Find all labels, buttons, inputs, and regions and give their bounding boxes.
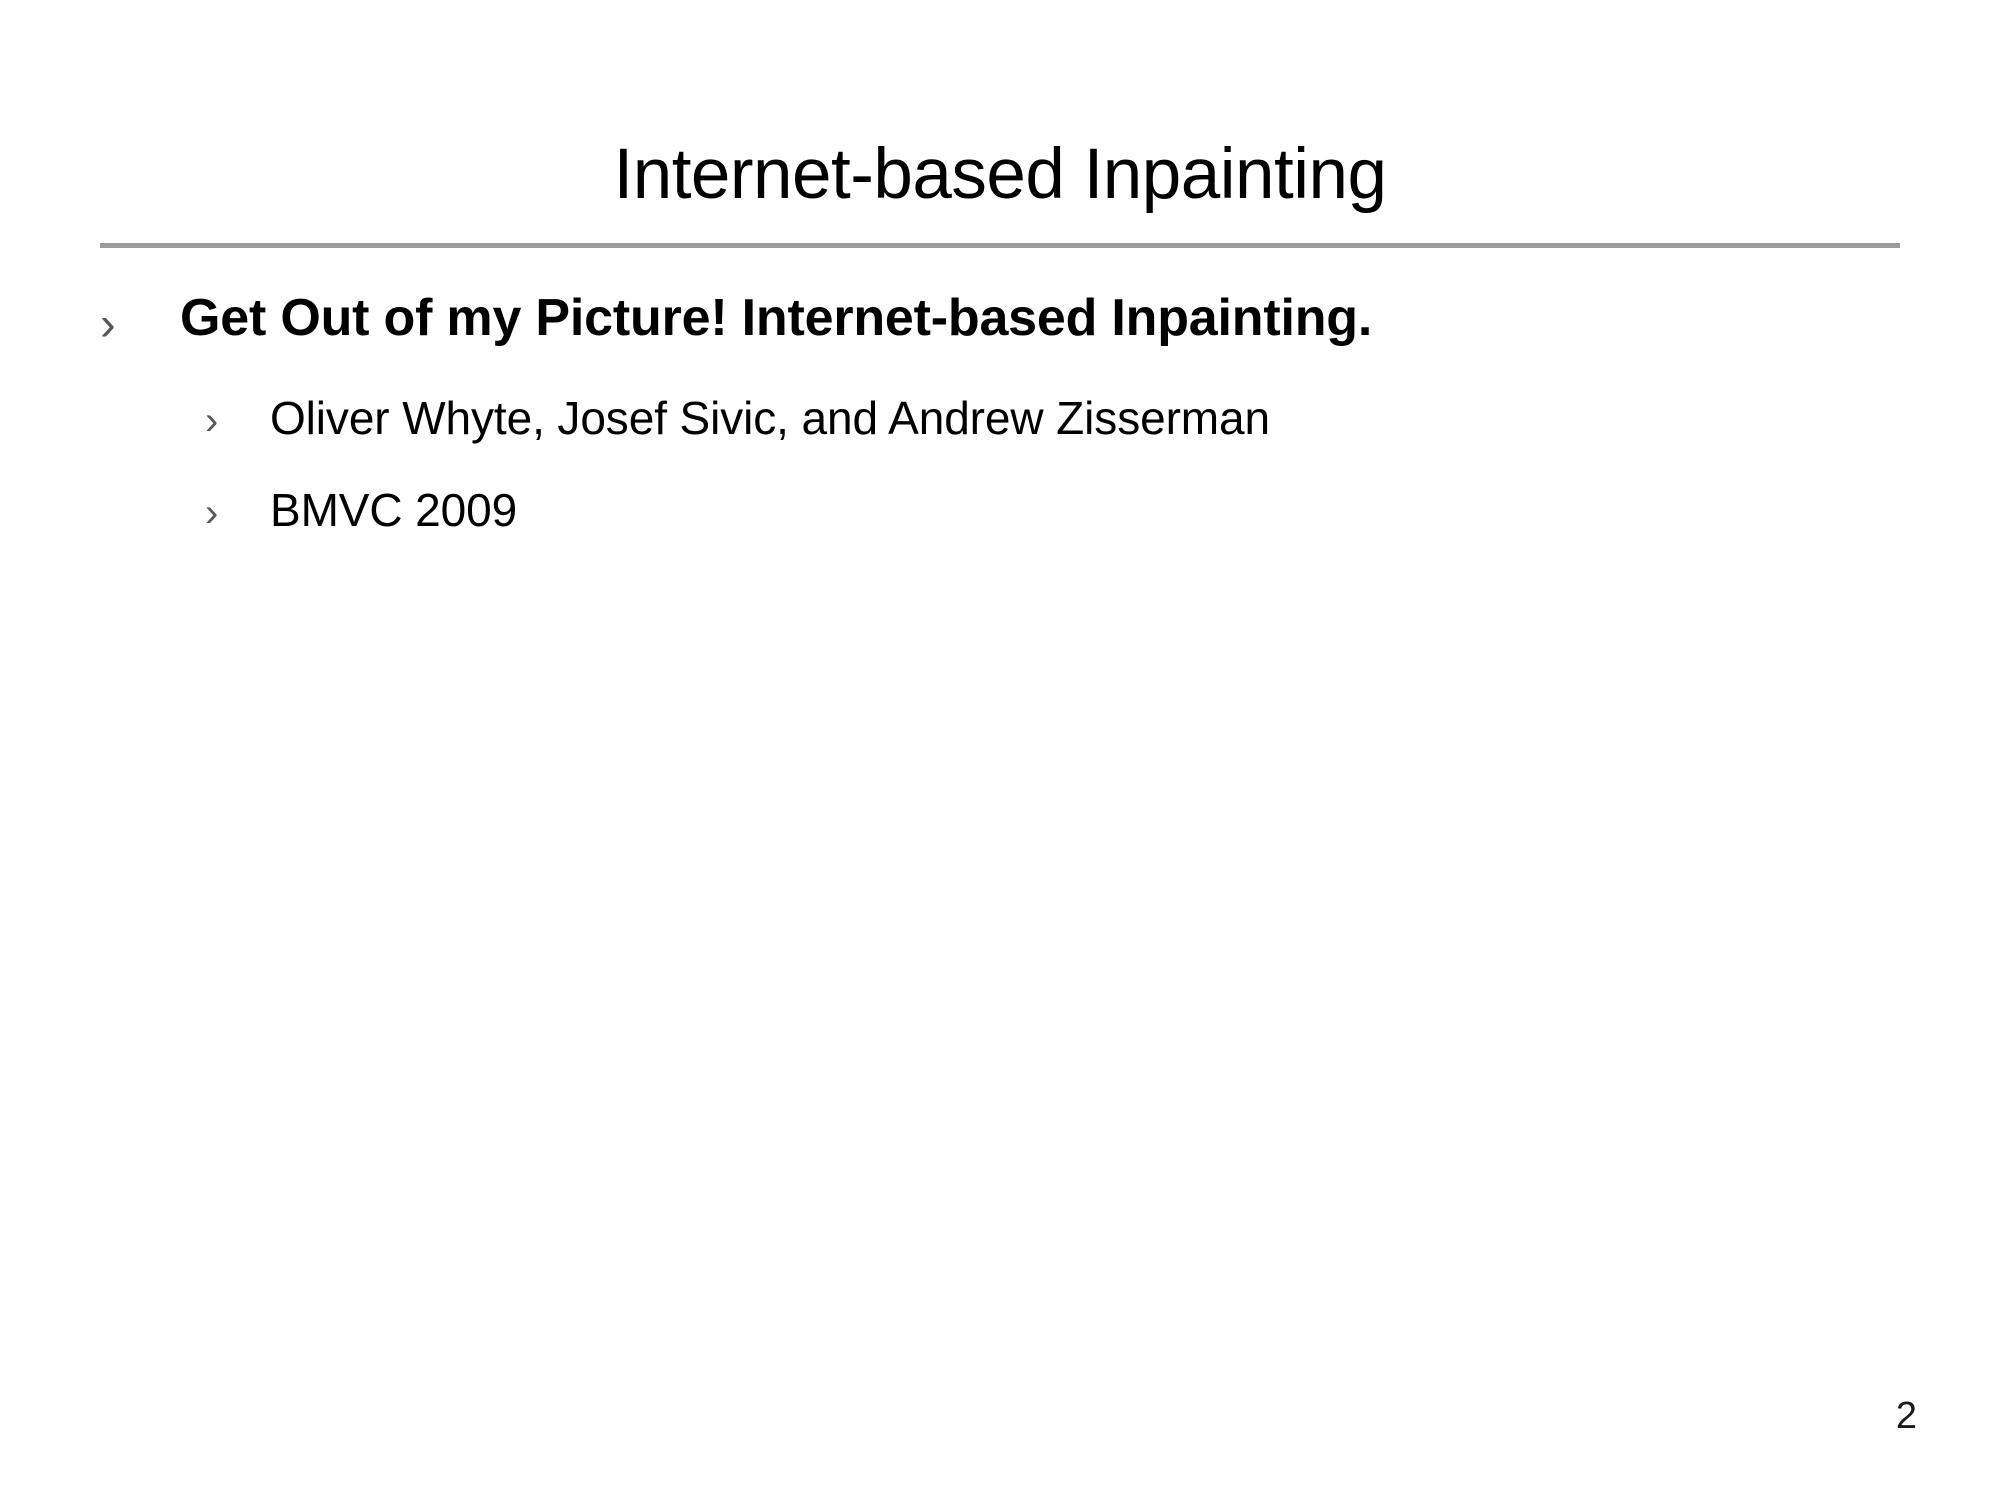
- title-divider-rule: [100, 243, 1900, 248]
- presentation-slide: Internet-based Inpainting › Get Out of m…: [0, 0, 2000, 1500]
- bullet-item-venue: › BMVC 2009: [0, 481, 2000, 557]
- bullet-item-venue-label: BMVC 2009: [270, 481, 517, 539]
- row-spacer: [0, 465, 2000, 481]
- bullet-item-authors-label: Oliver Whyte, Josef Sivic, and Andrew Zi…: [270, 389, 1270, 447]
- page-number: 2: [1896, 1394, 1917, 1438]
- row-spacer: [0, 368, 2000, 389]
- chevron-right-icon: ›: [205, 401, 218, 441]
- slide-body: › Get Out of my Picture! Internet-based …: [0, 286, 2000, 557]
- slide-title: Internet-based Inpainting: [0, 132, 2000, 218]
- chevron-right-icon: ›: [100, 300, 116, 347]
- bullet-item-authors: › Oliver Whyte, Josef Sivic, and Andrew …: [0, 389, 2000, 465]
- bullet-item-title-period: .: [1358, 286, 1372, 350]
- bullet-item-title: › Get Out of my Picture! Internet-based …: [0, 286, 2000, 368]
- bullet-item-title-label: Get Out of my Picture! Internet-based In…: [180, 286, 1358, 350]
- chevron-right-icon: ›: [205, 493, 218, 533]
